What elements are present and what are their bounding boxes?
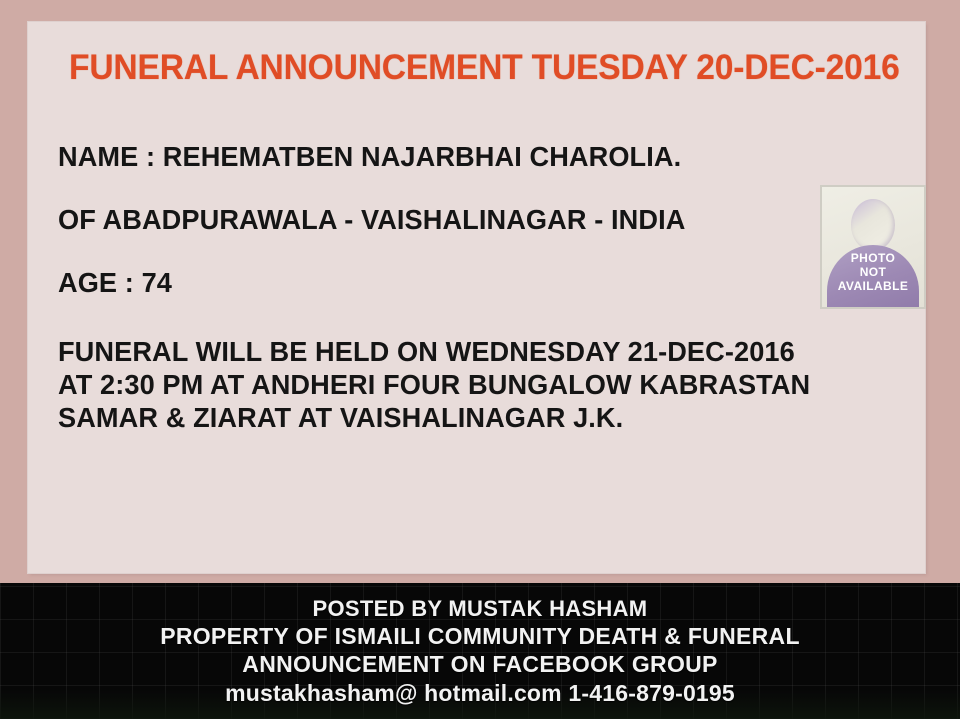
photo-caption-line-1: PHOTO xyxy=(822,251,924,265)
deceased-name-line: NAME : REHEMATBEN NAJARBHAI CHAROLIA. xyxy=(58,140,892,173)
footer-property-line: PROPERTY OF ISMAILI COMMUNITY DEATH & FU… xyxy=(0,622,960,650)
announcement-body: NAME : REHEMATBEN NAJARBHAI CHAROLIA. OF… xyxy=(58,140,918,434)
deceased-age-line: AGE : 74 xyxy=(58,266,892,299)
funeral-announcement-poster: FUNERAL ANNOUNCEMENT TUESDAY 20-DEC-2016… xyxy=(0,0,960,719)
announcement-title: FUNERAL ANNOUNCEMENT TUESDAY 20-DEC-2016 xyxy=(69,48,856,88)
announcement-card: FUNERAL ANNOUNCEMENT TUESDAY 20-DEC-2016… xyxy=(28,22,925,573)
funeral-details-line-1: FUNERAL WILL BE HELD ON WEDNESDAY 21-DEC… xyxy=(58,335,892,368)
photo-not-available-placeholder: PHOTO NOT AVAILABLE xyxy=(820,185,926,309)
avatar-head-icon xyxy=(851,199,895,251)
deceased-origin-line: OF ABADPURAWALA - VAISHALINAGAR - INDIA xyxy=(58,203,892,236)
spacer-after-age xyxy=(58,299,918,335)
photo-caption-line-3: AVAILABLE xyxy=(822,279,924,293)
photo-placeholder-caption: PHOTO NOT AVAILABLE xyxy=(822,251,924,293)
spacer-after-origin xyxy=(58,236,918,266)
poster-footer: POSTED BY MUSTAK HASHAM PROPERTY OF ISMA… xyxy=(0,583,960,719)
funeral-details-line-2: AT 2:30 PM AT ANDHERI FOUR BUNGALOW KABR… xyxy=(58,368,892,401)
funeral-details-line-3: SAMAR & ZIARAT AT VAISHALINAGAR J.K. xyxy=(58,401,892,434)
spacer-after-name xyxy=(58,173,918,203)
photo-placeholder-background: PHOTO NOT AVAILABLE xyxy=(822,187,924,307)
footer-group-line: ANNOUNCEMENT ON FACEBOOK GROUP xyxy=(0,650,960,678)
footer-text-block: POSTED BY MUSTAK HASHAM PROPERTY OF ISMA… xyxy=(0,595,960,708)
footer-contact-line: mustakhasham@ hotmail.com 1-416-879-0195 xyxy=(0,678,960,708)
photo-caption-line-2: NOT xyxy=(822,265,924,279)
footer-posted-by: POSTED BY MUSTAK HASHAM xyxy=(0,595,960,622)
